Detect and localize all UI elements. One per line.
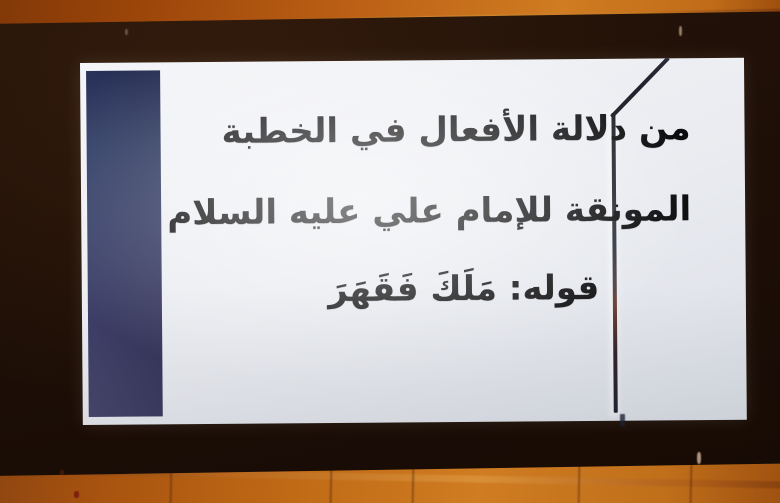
slide-quote-line-3: قوله: مَلَكَ فَقَهَرَ <box>236 269 692 310</box>
slide-accent-bar-shading <box>86 70 163 417</box>
slide-text-block: من دلالة الأفعال في الخطبة المونقة للإما… <box>234 110 692 310</box>
slide-canvas: من دلالة الأفعال في الخطبة المونقة للإما… <box>80 58 747 425</box>
projection-scene: من دلالة الأفعال في الخطبة المونقة للإما… <box>0 0 780 503</box>
projected-slide: من دلالة الأفعال في الخطبة المونقة للإما… <box>80 58 747 425</box>
slide-heading-line-2: المونقة للإمام علي عليه السلام <box>235 192 691 233</box>
slide-heading-line-1: من دلالة الأفعال في الخطبة <box>234 110 690 151</box>
